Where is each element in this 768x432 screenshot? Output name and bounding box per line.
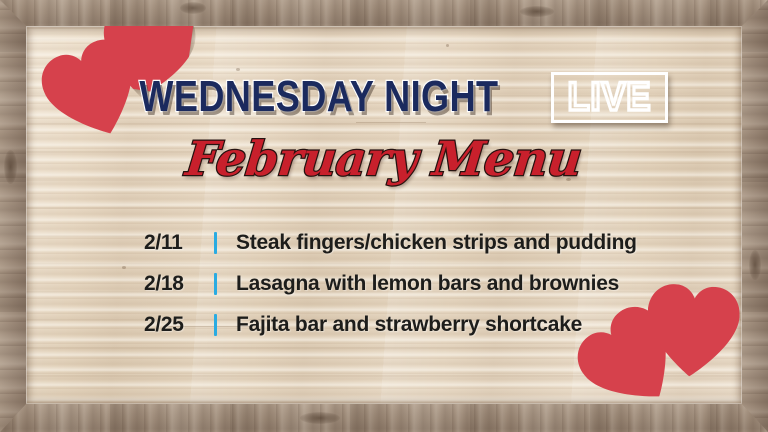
poster: WEDNESDAY NIGHT LIVE February Menu 2/11 …	[0, 0, 768, 432]
menu-row-divider	[214, 314, 217, 336]
menu-row-date: 2/25	[144, 313, 206, 337]
wood-knot	[749, 250, 761, 280]
menu-row-item: Fajita bar and strawberry shortcake	[236, 313, 582, 337]
subtitle-text: February Menu	[184, 136, 584, 183]
menu-row: 2/18 Lasagna with lemon bars and brownie…	[144, 263, 682, 304]
menu-row-item: Lasagna with lemon bars and brownies	[236, 272, 619, 296]
panel-speck	[122, 266, 126, 269]
frame-rail-bottom	[0, 404, 768, 432]
wood-knot	[300, 412, 340, 424]
wood-grain-left	[0, 0, 26, 432]
menu-row-item: Steak fingers/chicken strips and pudding	[236, 231, 637, 255]
wood-grain-bottom	[0, 404, 768, 432]
poster-panel: WEDNESDAY NIGHT LIVE February Menu 2/11 …	[26, 26, 742, 404]
wood-knot	[4, 150, 17, 184]
menu-row-date: 2/11	[144, 231, 206, 255]
panel-speck	[446, 44, 449, 47]
heart-bottom-right-large-icon	[638, 278, 742, 398]
poster-header: WEDNESDAY NIGHT LIVE	[26, 70, 742, 124]
menu-row-divider	[214, 232, 217, 254]
frame-stile-right	[742, 0, 768, 432]
poster-subtitle: February Menu	[26, 130, 742, 188]
menu-row: 2/11 Steak fingers/chicken strips and pu…	[144, 222, 682, 263]
live-badge-label: LIVE	[568, 77, 652, 117]
wood-grain-top	[0, 0, 768, 26]
menu-row-date: 2/18	[144, 272, 206, 296]
frame-rail-top	[0, 0, 768, 26]
page-title: WEDNESDAY NIGHT	[139, 75, 498, 119]
wood-knot	[180, 2, 206, 14]
menu-row-divider	[214, 273, 217, 295]
frame-stile-left	[0, 0, 26, 432]
wood-grain-right	[742, 0, 768, 432]
live-badge: LIVE	[551, 72, 668, 123]
wood-knot	[520, 6, 554, 17]
